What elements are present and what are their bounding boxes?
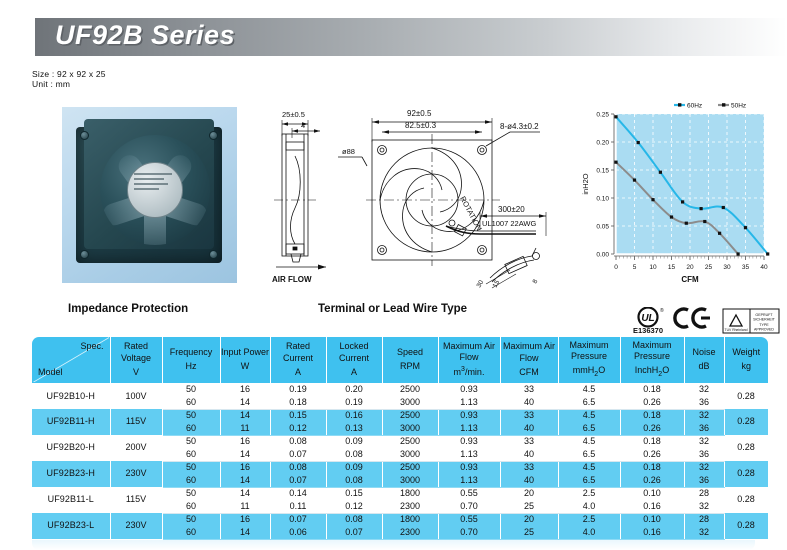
- cell-model: UF92B20-H: [32, 435, 110, 461]
- tuv-line4: APPROVED: [754, 328, 774, 332]
- cell-model: UF92B23-L: [32, 513, 110, 539]
- chart-y-tick-label: 0.25: [596, 112, 609, 119]
- chart-x-tick-label: 20: [686, 264, 694, 271]
- cell-max-airflow-m3: 1.13: [438, 422, 500, 435]
- specification-table: Spec. Model Rated VoltageVFrequencyHzInp…: [32, 337, 755, 550]
- cell-frequency: 60: [162, 396, 220, 409]
- cell-max-airflow-m3: 0.55: [438, 487, 500, 500]
- table-corner-cell: Spec. Model: [32, 337, 110, 383]
- cell-rated-current: 0.06: [270, 526, 326, 539]
- cell-max-airflow-cfm: 40: [500, 422, 558, 435]
- dim-holes: 8-ø4.3±0.2: [500, 122, 539, 131]
- tuv-line2: SICHERHEIT: [753, 318, 776, 322]
- cell-speed: 2500: [382, 461, 438, 474]
- chart-x-axis-label: CFM: [681, 275, 699, 284]
- cell-locked-current: 0.12: [326, 500, 382, 513]
- cell-max-pressure-inch: 0.16: [620, 500, 684, 513]
- cell-model: UF92B10-H: [32, 383, 110, 409]
- header-unit: W: [221, 361, 270, 372]
- cell-max-pressure-inch: 0.26: [620, 396, 684, 409]
- header-title: Maximum Pressure: [559, 340, 620, 363]
- dim-flange: 4: [301, 121, 305, 130]
- table-header-input-power: Input PowerW: [220, 337, 270, 383]
- chart-legend-50hz: 50Hz: [718, 103, 746, 110]
- cell-locked-current: 0.15: [326, 487, 382, 500]
- cell-frequency: 60: [162, 474, 220, 487]
- ul-file-number: E136370: [633, 326, 663, 335]
- tuv-foot-label: TUV Rheinland: [725, 328, 748, 332]
- cell-input-power: 16: [220, 461, 270, 474]
- cell-rated-current: 0.19: [270, 383, 326, 396]
- header-title: Maximum Pressure: [621, 340, 684, 363]
- cell-noise: 36: [684, 448, 724, 461]
- cell-max-airflow-cfm: 20: [500, 513, 558, 526]
- header-title: Maximum Air Flow: [439, 341, 500, 364]
- cell-speed: 3000: [382, 422, 438, 435]
- chart-x-tick-label: 0: [614, 264, 618, 271]
- cell-noise: 32: [684, 526, 724, 539]
- cell-rated-voltage: 100V: [110, 383, 162, 409]
- cell-noise: 32: [684, 500, 724, 513]
- cell-locked-current: 0.08: [326, 448, 382, 461]
- cell-rated-current: 0.08: [270, 435, 326, 448]
- cell-max-airflow-cfm: 25: [500, 526, 558, 539]
- cell-rated-current: 0.18: [270, 396, 326, 409]
- header-unit: CFM: [501, 367, 558, 378]
- cell-max-airflow-cfm: 33: [500, 461, 558, 474]
- chart-x-tick-label: 35: [742, 264, 750, 271]
- table-header-rated-voltage: Rated VoltageV: [110, 337, 162, 383]
- chart-x-tick-label: 10: [649, 264, 657, 271]
- cell-noise: 36: [684, 474, 724, 487]
- cell-rated-current: 0.14: [270, 487, 326, 500]
- cell-locked-current: 0.20: [326, 383, 382, 396]
- table-header-max-pressure-inch: Maximum PressureInchH2O: [620, 337, 684, 383]
- cell-max-airflow-m3: 0.70: [438, 500, 500, 513]
- cell-max-pressure-mm: 6.5: [558, 396, 620, 409]
- dim-thickness: 25±0.5: [282, 110, 305, 119]
- cell-model: UF92B11-L: [32, 487, 110, 513]
- header-unit: m3/min.: [439, 366, 500, 378]
- table-row: UF92B11-H115V50140.150.1625000.93334.50.…: [32, 409, 768, 422]
- table-header-max-airflow-m3: Maximum Air Flowm3/min.: [438, 337, 500, 383]
- cell-max-pressure-inch: 0.16: [620, 526, 684, 539]
- svg-text:50Hz: 50Hz: [731, 103, 746, 110]
- cell-max-pressure-mm: 6.5: [558, 474, 620, 487]
- cell-max-airflow-cfm: 40: [500, 396, 558, 409]
- cell-weight: 0.28: [724, 383, 768, 409]
- cell-max-pressure-mm: 4.5: [558, 383, 620, 396]
- cell-speed: 1800: [382, 487, 438, 500]
- cell-speed: 2500: [382, 383, 438, 396]
- drawing-front-view: 92±0.5 82.5±0.3 8-ø4.3±0.2 300±20 UL1007…: [360, 98, 565, 290]
- cell-max-airflow-cfm: 40: [500, 448, 558, 461]
- screw-hole-icon: [209, 131, 218, 140]
- cell-max-airflow-m3: 0.93: [438, 435, 500, 448]
- caption-impedance-protection: Impedance Protection: [68, 303, 188, 315]
- cell-noise: 28: [684, 487, 724, 500]
- cell-max-airflow-m3: 1.13: [438, 396, 500, 409]
- cell-frequency: 50: [162, 383, 220, 396]
- cell-max-airflow-m3: 1.13: [438, 474, 500, 487]
- cell-model: UF92B11-H: [32, 409, 110, 435]
- ul-mark-icon: UL ®: [639, 307, 665, 327]
- performance-chart: 0.000.050.100.150.200.25 051015202530354…: [578, 96, 783, 286]
- cell-input-power: 14: [220, 474, 270, 487]
- cell-noise: 36: [684, 396, 724, 409]
- table-header-noise: NoisedB: [684, 337, 724, 383]
- table-header-speed: SpeedRPM: [382, 337, 438, 383]
- cell-rated-current: 0.12: [270, 422, 326, 435]
- cell-speed: 2500: [382, 435, 438, 448]
- cell-locked-current: 0.09: [326, 435, 382, 448]
- header-title: Speed: [383, 347, 438, 358]
- header-unit: A: [271, 367, 326, 378]
- cell-rated-current: 0.08: [270, 461, 326, 474]
- wire-dim-3: 8: [532, 278, 540, 285]
- cell-max-pressure-inch: 0.18: [620, 435, 684, 448]
- table-row: UF92B23-H230V50160.080.0925000.93334.50.…: [32, 461, 768, 474]
- drawing-side-view: 25±0.5 4 AIR FLOW ø88: [268, 104, 368, 286]
- cell-noise: 32: [684, 409, 724, 422]
- dim-hole-pitch: 82.5±0.3: [405, 121, 437, 130]
- cell-rated-current: 0.07: [270, 474, 326, 487]
- cell-rated-current: 0.15: [270, 409, 326, 422]
- cell-frequency: 50: [162, 435, 220, 448]
- chart-x-tick-label: 15: [668, 264, 676, 271]
- cell-speed: 2300: [382, 526, 438, 539]
- cell-locked-current: 0.07: [326, 526, 382, 539]
- header-unit: mmH2O: [559, 365, 620, 380]
- header-unit: Hz: [163, 361, 220, 372]
- header-unit: InchH2O: [621, 365, 684, 380]
- header-unit: RPM: [383, 361, 438, 372]
- cell-input-power: 14: [220, 526, 270, 539]
- svg-text:®: ®: [660, 307, 664, 314]
- cell-frequency: 50: [162, 409, 220, 422]
- chart-y-tick-label: 0.15: [596, 168, 609, 175]
- dim-bore: ø88: [342, 147, 355, 156]
- cell-max-airflow-cfm: 33: [500, 435, 558, 448]
- cell-locked-current: 0.08: [326, 513, 382, 526]
- cell-noise: 36: [684, 422, 724, 435]
- cell-max-airflow-cfm: 25: [500, 500, 558, 513]
- svg-text:UL: UL: [641, 313, 654, 324]
- corner-model-label: Model: [38, 367, 63, 378]
- airflow-label: AIR FLOW: [272, 275, 312, 284]
- cell-rated-voltage: 115V: [110, 409, 162, 435]
- cell-max-pressure-mm: 2.5: [558, 487, 620, 500]
- cell-max-pressure-mm: 6.5: [558, 448, 620, 461]
- caption-terminal-lead-wire: Terminal or Lead Wire Type: [318, 303, 467, 315]
- cell-max-pressure-inch: 0.26: [620, 448, 684, 461]
- cell-input-power: 16: [220, 435, 270, 448]
- cell-max-airflow-cfm: 20: [500, 487, 558, 500]
- header-title: Noise: [685, 347, 724, 358]
- cell-speed: 3000: [382, 396, 438, 409]
- chart-x-tick-label: 30: [723, 264, 731, 271]
- cell-max-airflow-m3: 0.70: [438, 526, 500, 539]
- cell-input-power: 14: [220, 487, 270, 500]
- lead-spec-label: UL1007 22AWG: [482, 219, 537, 228]
- cell-max-airflow-m3: 0.93: [438, 409, 500, 422]
- page-title: UF92B Series: [55, 20, 235, 51]
- cell-rated-voltage: 230V: [110, 513, 162, 539]
- cell-noise: 32: [684, 435, 724, 448]
- screw-hole-icon: [209, 250, 218, 259]
- table-header-max-airflow-cfm: Maximum Air FlowCFM: [500, 337, 558, 383]
- cell-speed: 3000: [382, 448, 438, 461]
- header-title: Locked Current: [327, 341, 382, 364]
- cell-rated-voltage: 230V: [110, 461, 162, 487]
- header-title: Frequency: [163, 347, 220, 358]
- cell-locked-current: 0.13: [326, 422, 382, 435]
- table-row: UF92B10-H100V50160.190.2025000.93334.50.…: [32, 383, 768, 396]
- chart-legend-60hz: 60Hz: [674, 103, 702, 110]
- cell-weight: 0.28: [724, 487, 768, 513]
- cell-speed: 2300: [382, 500, 438, 513]
- cell-frequency: 60: [162, 422, 220, 435]
- cell-weight: 0.28: [724, 461, 768, 487]
- ce-mark-icon: [675, 309, 710, 327]
- cell-max-airflow-m3: 1.13: [438, 448, 500, 461]
- cell-noise: 32: [684, 383, 724, 396]
- chart-x-tick-label: 25: [705, 264, 713, 271]
- cell-input-power: 16: [220, 383, 270, 396]
- table-header-weight: Weightkg: [724, 337, 768, 383]
- cell-input-power: 14: [220, 409, 270, 422]
- svg-text:60Hz: 60Hz: [687, 103, 702, 110]
- cell-max-pressure-mm: 4.0: [558, 526, 620, 539]
- cell-frequency: 50: [162, 461, 220, 474]
- cell-locked-current: 0.19: [326, 396, 382, 409]
- size-label: Size : 92 x 92 x 25: [32, 69, 106, 79]
- cell-max-airflow-cfm: 33: [500, 409, 558, 422]
- cell-frequency: 50: [162, 513, 220, 526]
- chart-y-axis-label: inH2O: [581, 173, 590, 194]
- cell-input-power: 16: [220, 513, 270, 526]
- fan-label-hub: [127, 162, 183, 218]
- cell-weight: 0.28: [724, 513, 768, 539]
- table-header-locked-current: Locked CurrentA: [326, 337, 382, 383]
- header-title: Input Power: [221, 347, 270, 358]
- cell-max-pressure-inch: 0.10: [620, 487, 684, 500]
- fan-housing: [76, 127, 222, 263]
- header-title: Weight: [725, 347, 769, 358]
- cell-max-pressure-inch: 0.18: [620, 409, 684, 422]
- header-title: Rated Current: [271, 341, 326, 364]
- header-unit: kg: [725, 361, 769, 372]
- tuv-line1: GEPRUFT: [755, 313, 773, 317]
- cell-max-pressure-inch: 0.18: [620, 461, 684, 474]
- corner-spec-label: Spec.: [80, 341, 103, 352]
- table-header-frequency: FrequencyHz: [162, 337, 220, 383]
- table-row: UF92B20-H200V50160.080.0925000.93334.50.…: [32, 435, 768, 448]
- table-footer-strip: [32, 540, 755, 550]
- chart-x-tick-label: 40: [760, 264, 768, 271]
- dim-width: 92±0.5: [407, 109, 432, 118]
- cell-noise: 28: [684, 513, 724, 526]
- unit-label: Unit : mm: [32, 79, 70, 89]
- chart-x-tick-label: 5: [633, 264, 637, 271]
- header-unit: V: [111, 367, 162, 378]
- cell-frequency: 50: [162, 487, 220, 500]
- cell-input-power: 14: [220, 396, 270, 409]
- chart-y-tick-label: 0.20: [596, 140, 609, 147]
- table-header-rated-current: Rated CurrentA: [270, 337, 326, 383]
- cell-max-airflow-m3: 0.93: [438, 461, 500, 474]
- cell-rated-voltage: 200V: [110, 435, 162, 461]
- cell-max-pressure-inch: 0.26: [620, 474, 684, 487]
- cell-input-power: 11: [220, 500, 270, 513]
- cell-locked-current: 0.08: [326, 474, 382, 487]
- table-row: UF92B23-L230V50160.070.0818000.55202.50.…: [32, 513, 768, 526]
- cell-max-pressure-mm: 4.5: [558, 409, 620, 422]
- cell-frequency: 60: [162, 526, 220, 539]
- cell-weight: 0.28: [724, 409, 768, 435]
- cell-input-power: 11: [220, 422, 270, 435]
- cell-speed: 2500: [382, 409, 438, 422]
- header-unit: A: [327, 367, 382, 378]
- cell-frequency: 60: [162, 500, 220, 513]
- header-title: Rated Voltage: [111, 341, 162, 364]
- screw-hole-icon: [80, 250, 89, 259]
- wire-dim-1: 30: [476, 279, 486, 289]
- cell-model: UF92B23-H: [32, 461, 110, 487]
- header-title: Maximum Air Flow: [501, 341, 558, 364]
- cell-frequency: 60: [162, 448, 220, 461]
- cell-max-pressure-mm: 6.5: [558, 422, 620, 435]
- cell-rated-current: 0.07: [270, 513, 326, 526]
- cell-weight: 0.28: [724, 435, 768, 461]
- cell-noise: 32: [684, 461, 724, 474]
- cell-max-airflow-m3: 0.55: [438, 513, 500, 526]
- tuv-line3: TYPE: [759, 323, 769, 327]
- chart-y-tick-label: 0.00: [596, 252, 609, 259]
- table-body: UF92B10-H100V50160.190.2025000.93334.50.…: [32, 383, 768, 539]
- cell-max-pressure-inch: 0.26: [620, 422, 684, 435]
- product-photo: [62, 107, 237, 283]
- table-header-row: Spec. Model Rated VoltageVFrequencyHzInp…: [32, 337, 768, 383]
- cell-speed: 1800: [382, 513, 438, 526]
- fan-impeller: [100, 135, 210, 245]
- cell-max-airflow-cfm: 40: [500, 474, 558, 487]
- certification-marks: UL ® E136370 TUV Rheinland GEPRUFT SICHE…: [628, 307, 783, 335]
- cell-locked-current: 0.16: [326, 409, 382, 422]
- cell-speed: 3000: [382, 474, 438, 487]
- screw-hole-icon: [80, 131, 89, 140]
- chart-y-tick-label: 0.10: [596, 196, 609, 203]
- cell-rated-current: 0.11: [270, 500, 326, 513]
- chart-y-tick-label: 0.05: [596, 224, 609, 231]
- cell-max-pressure-mm: 4.0: [558, 500, 620, 513]
- header-unit: dB: [685, 361, 724, 372]
- table-row: UF92B11-L115V50140.140.1518000.55202.50.…: [32, 487, 768, 500]
- cell-max-airflow-m3: 0.93: [438, 383, 500, 396]
- cell-input-power: 14: [220, 448, 270, 461]
- cell-max-pressure-mm: 4.5: [558, 435, 620, 448]
- cell-max-pressure-inch: 0.18: [620, 383, 684, 396]
- cell-locked-current: 0.09: [326, 461, 382, 474]
- cell-rated-current: 0.07: [270, 448, 326, 461]
- tuv-mark-icon: TUV Rheinland GEPRUFT SICHERHEIT TYPE AP…: [723, 309, 779, 333]
- cell-max-pressure-mm: 4.5: [558, 461, 620, 474]
- cell-max-pressure-mm: 2.5: [558, 513, 620, 526]
- cell-max-pressure-inch: 0.10: [620, 513, 684, 526]
- dim-lead-length: 300±20: [498, 205, 525, 214]
- cell-rated-voltage: 115V: [110, 487, 162, 513]
- table-header-max-pressure-mm: Maximum PressuremmH2O: [558, 337, 620, 383]
- cell-max-airflow-cfm: 33: [500, 383, 558, 396]
